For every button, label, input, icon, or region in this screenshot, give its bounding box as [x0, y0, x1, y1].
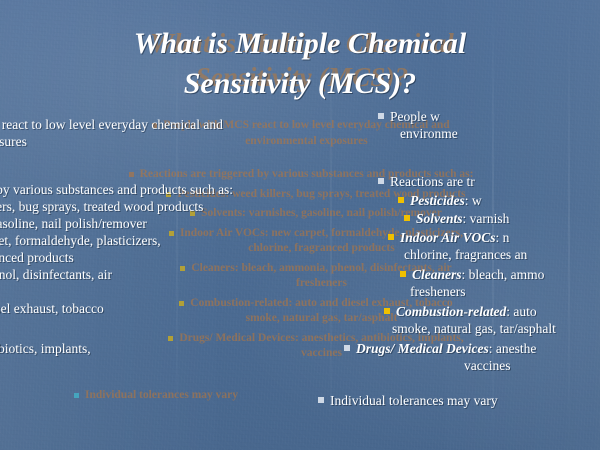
white-right-line-10: smoke, natural gas, tar/asphalt: [384, 320, 600, 337]
yellow-square-bullet-icon: [398, 197, 404, 203]
white-right-line-8: fresheners: [400, 283, 600, 300]
white-right-closing-statement: Individual tolerances may vary: [318, 392, 600, 409]
white-left-line-9: and diesel exhaust, tobacco: [0, 300, 386, 317]
white-right-line-1b: environme: [400, 126, 458, 141]
white-left-column: th MCS react to low level everyday chemi…: [0, 116, 386, 150]
category-examples-pesticides: : w: [465, 193, 482, 208]
category-examples-drugs: : anesthe: [489, 341, 537, 356]
white-text-layer: What is Multiple Chemical Sensitivity (M…: [0, 0, 600, 450]
white-right-category-cleaners: Cleaners: bleach, ammo fresheners: [400, 266, 600, 300]
category-label-combustion-related: Combustion-related: [396, 304, 506, 319]
square-bullet-icon: [378, 113, 384, 119]
white-right-line-13: Individual tolerances may vary: [330, 393, 498, 408]
square-bullet-icon: [378, 178, 384, 184]
white-left-line-8: nia, phenol, disinfectants, air: [0, 266, 386, 283]
white-right-category-drugs: Drugs/ Medical Devices: anesthe vaccines: [344, 340, 600, 374]
white-left-line-2: tal exposures: [0, 133, 386, 150]
title-line-2: Sensitivity (MCS)?: [0, 64, 600, 104]
white-right-category-solvents: Solvents: varnish: [404, 210, 600, 227]
square-bullet-icon: [318, 397, 324, 403]
white-left-column-4: ics, antibiotics, implants,: [0, 340, 386, 357]
yellow-square-bullet-icon: [388, 234, 394, 240]
yellow-square-bullet-icon: [384, 308, 390, 314]
category-label-indoor-air-vocs: Indoor Air VOCs: [400, 230, 496, 245]
title-line-1: What is Multiple Chemical: [134, 27, 467, 60]
white-left-line-4: eed killers, bug sprays, treated wood pr…: [0, 198, 386, 215]
white-right-line-12: vaccines: [344, 357, 600, 374]
white-left-line-3: ggered by various substances and product…: [0, 181, 386, 198]
category-examples-cleaners: : bleach, ammo: [462, 267, 545, 282]
white-right-bullet-1: People w environme: [378, 108, 600, 142]
white-left-line-1: th MCS react to low level everyday chemi…: [0, 116, 386, 133]
slide-title: What is Multiple Chemical Sensitivity (M…: [0, 24, 600, 104]
category-examples-solvents: : varnish: [463, 211, 510, 226]
white-left-line-5: ishes, gasoline, nail polish/remover: [0, 215, 386, 232]
white-right-bullet-2: Reactions are tr: [378, 173, 600, 190]
white-left-line-7: d fragranced products: [0, 249, 386, 266]
category-label-cleaners: Cleaners: [412, 267, 462, 282]
square-bullet-icon: [344, 345, 350, 351]
category-label-solvents: Solvents: [416, 211, 463, 226]
presentation-slide: What is Multiple Chemical Sensitivity (M…: [0, 0, 600, 450]
white-right-category-combustion: Combustion-related: auto smoke, natural …: [384, 303, 600, 337]
white-right-category-vocs: Indoor Air VOCs: n chlorine, fragrances …: [388, 229, 600, 263]
white-right-line-6: chlorine, fragrances an: [388, 246, 600, 263]
category-label-pesticides: Pesticides: [410, 193, 465, 208]
white-left-line-10: ics, antibiotics, implants,: [0, 340, 386, 357]
white-left-line-6: ew carpet, formaldehyde, plasticizers,: [0, 232, 386, 249]
yellow-square-bullet-icon: [404, 215, 410, 221]
yellow-square-bullet-icon: [400, 271, 406, 277]
white-right-line-1a: People w: [390, 109, 440, 124]
category-label-drugs-medical-devices: Drugs/ Medical Devices: [356, 341, 489, 356]
white-left-column-2: ggered by various substances and product…: [0, 181, 386, 283]
category-examples-vocs: : n: [496, 230, 510, 245]
white-left-column-3: and diesel exhaust, tobacco: [0, 300, 386, 317]
white-right-line-2: Reactions are tr: [390, 174, 475, 189]
category-examples-combustion: : auto: [506, 304, 536, 319]
white-right-category-pesticides: Pesticides: w: [398, 192, 600, 209]
